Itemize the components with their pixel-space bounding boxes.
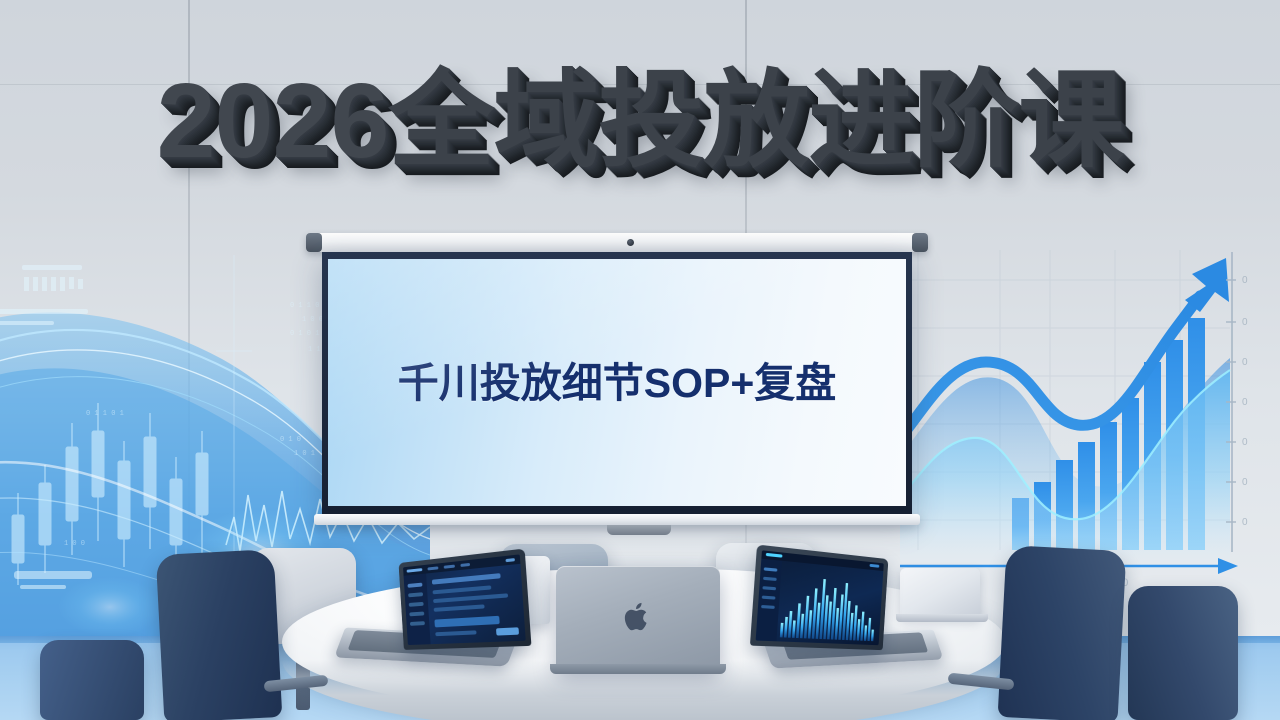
title-chinese: 全域投放进阶课 — [388, 62, 1123, 180]
svg-text:0 1 1 0: 0 1 1 0 — [290, 302, 319, 310]
projector-screen: 千川投放细节SOP+复盘 — [322, 252, 912, 514]
projector-cap-right — [912, 233, 928, 252]
svg-text:0: 0 — [1242, 437, 1248, 448]
svg-text:0: 0 — [1242, 477, 1248, 488]
svg-text:0: 0 — [1242, 275, 1248, 286]
laptop-right-screen — [756, 550, 884, 645]
projector-screen-title: 千川投放细节SOP+复盘 — [398, 349, 837, 409]
projector-screen-surface: 千川投放细节SOP+复盘 — [328, 259, 906, 506]
poster-canvas: 00 00 00 0 000000 — [0, 0, 1280, 720]
projector-cap-left — [306, 233, 322, 252]
title-year: 2026 — [157, 62, 389, 180]
svg-text:0: 0 — [1242, 517, 1248, 528]
projector-housing-dot — [627, 239, 634, 246]
glow-blob-2 — [58, 577, 162, 637]
svg-text:0 1 0 1: 0 1 0 1 — [290, 330, 319, 338]
page-title: 2026全域投放进阶课 — [0, 68, 1280, 174]
svg-text:0: 0 — [1242, 397, 1248, 408]
svg-text:0: 0 — [1242, 357, 1248, 368]
svg-text:0 1 1 0 1: 0 1 1 0 1 — [86, 410, 124, 418]
projector-screen-bottom-bar — [314, 514, 920, 525]
laptop-right-analytics — [752, 552, 940, 672]
laptop-center-macbook — [556, 566, 720, 676]
projector-housing — [306, 233, 928, 252]
apple-logo-icon — [625, 601, 652, 633]
svg-text:1 0 1: 1 0 1 — [294, 450, 315, 458]
laptop-left-dashboard — [336, 556, 526, 668]
svg-text:1 0 0: 1 0 0 — [64, 540, 85, 548]
chart-y-tick-labels: 00 00 00 0 — [1242, 275, 1248, 528]
laptop-left-screen — [403, 554, 526, 645]
laptop-right-spike-chart — [778, 563, 881, 641]
svg-text:0 1 0: 0 1 0 — [280, 436, 301, 444]
chart-trend-arrow-head — [1185, 258, 1229, 312]
projector-pull-handle — [607, 525, 671, 535]
svg-text:0: 0 — [1242, 317, 1248, 328]
